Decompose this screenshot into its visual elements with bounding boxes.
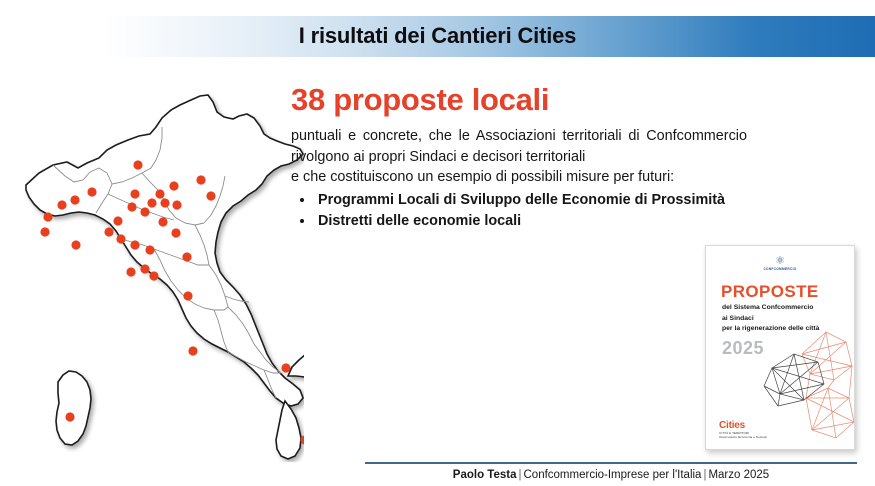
map-marker [116,234,125,243]
map-landmass [26,95,304,462]
map-marker [188,346,197,355]
bullet-dot-icon [300,219,304,223]
italy-mainland-outline [26,95,303,406]
footer-separator: | [517,469,524,481]
body-paragraph-line-1: puntuali e concrete, che le Associazioni… [291,128,747,165]
cover-subtitle: del Sistema Confcommercio ai Sindaci per… [722,303,842,335]
confcommercio-emblem-icon: ⚛ [745,256,815,267]
list-item: Distretti delle economie locali [291,211,747,232]
puglia-heel-outline [288,346,304,377]
content-column: 38 proposte locali puntuali e concrete, … [291,80,747,232]
map-marker [71,240,80,249]
cities-brand-name: Cities [719,420,767,431]
map-marker [281,363,290,372]
bullet-dot-icon [300,198,304,202]
map-marker [172,200,181,209]
map-marker [182,252,191,261]
list-item-label: Programmi Locali di Sviluppo delle Econo… [318,192,725,208]
network-orange [802,332,854,438]
map-marker [133,160,142,169]
map-marker [196,175,205,184]
cover-title: PROPOSTE [721,282,819,302]
cover-year: 2025 [722,338,764,359]
calabria-toe-outline [276,401,301,459]
italy-map [4,72,304,462]
report-cover-thumbnail: ⚛ CONFCOMMERCIO PROPOSTE del Sistema Con… [705,245,855,450]
cover-subtitle-line: del Sistema Confcommercio [722,303,842,314]
map-marker [155,189,164,198]
footer-author: Paolo Testa [453,469,517,481]
footer-organization: Confcommercio-Imprese per l'Italia [524,469,702,481]
cover-logo: ⚛ CONFCOMMERCIO [745,256,815,272]
map-marker [140,264,149,273]
map-marker [70,195,79,204]
cover-logo-label: CONFCOMMERCIO [745,267,815,272]
headline: 38 proposte locali [291,80,747,120]
map-marker [140,207,149,216]
map-marker [130,189,139,198]
body-paragraph: puntuali e concrete, che le Associazioni… [291,126,747,188]
map-marker [65,412,74,421]
map-marker [160,198,169,207]
sardinia-outline [56,371,91,445]
map-marker [87,187,96,196]
map-marker [126,267,135,276]
cover-subtitle-line: per la rigenerazione delle città [722,324,842,335]
map-marker [104,227,113,236]
cities-brand-tagline: Osservatorio Economia e Società [719,435,767,439]
map-marker [206,191,215,200]
map-marker [171,228,180,237]
body-paragraph-line-2: e che costituiscono un esempio di possib… [291,167,747,188]
footer-date: Marzo 2025 [708,469,769,481]
map-marker [145,245,154,254]
map-marker [127,202,136,211]
map-marker [149,271,158,280]
cover-subtitle-line: ai Sindaci [722,314,842,325]
map-marker [183,291,192,300]
list-item: Programmi Locali di Sviluppo delle Econo… [291,190,747,211]
map-marker [158,217,167,226]
map-marker [169,181,178,190]
map-marker [130,240,139,249]
map-marker [113,216,122,225]
footer-divider [365,462,857,464]
map-marker [40,227,49,236]
cities-brand-logo: Cities CITTÀ E TERRITORI Osservatorio Ec… [719,420,767,439]
bullet-list: Programmi Locali di Sviluppo delle Econo… [291,190,747,232]
map-marker [57,200,66,209]
footer: Paolo Testa|Confcommercio-Imprese per l'… [365,468,857,483]
map-marker [43,212,52,221]
map-marker [147,198,156,207]
list-item-label: Distretti delle economie locali [318,213,521,229]
page-title: I risultati dei Cantieri Cities [0,18,875,54]
